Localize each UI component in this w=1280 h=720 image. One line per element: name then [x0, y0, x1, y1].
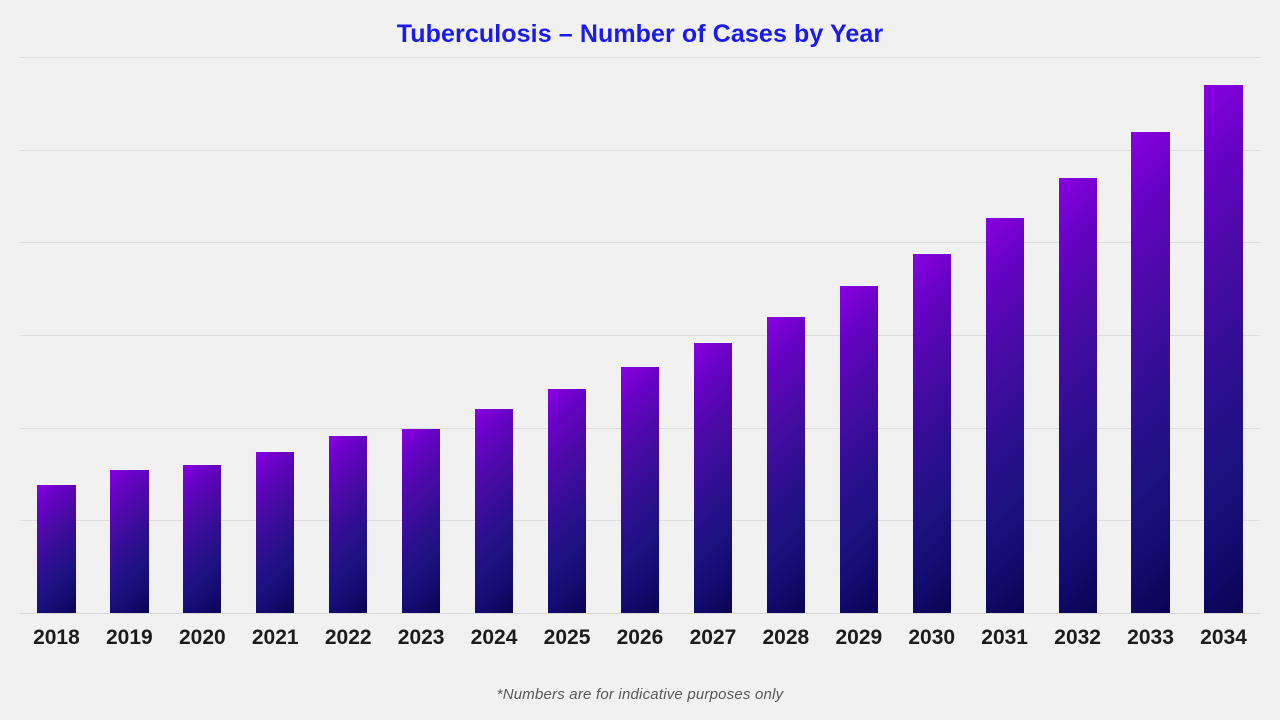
bar[interactable]	[256, 452, 294, 613]
x-axis-tick-label: 2022	[312, 624, 385, 652]
bar[interactable]	[986, 218, 1024, 613]
bar[interactable]	[183, 465, 221, 613]
bar[interactable]	[37, 485, 75, 613]
plot-area	[20, 57, 1260, 613]
bar[interactable]	[402, 429, 440, 613]
x-axis-tick-label: 2030	[895, 624, 968, 652]
bar[interactable]	[767, 317, 805, 614]
gridline	[20, 57, 1260, 58]
x-axis-tick-label: 2024	[458, 624, 531, 652]
x-axis-tick-label: 2018	[20, 624, 93, 652]
bar[interactable]	[1204, 85, 1242, 613]
chart-title: Tuberculosis – Number of Cases by Year	[0, 20, 1280, 49]
x-axis-tick-label: 2023	[385, 624, 458, 652]
bar[interactable]	[694, 343, 732, 613]
x-axis-tick-label: 2032	[1041, 624, 1114, 652]
bar[interactable]	[1059, 178, 1097, 614]
x-axis-tick-label: 2033	[1114, 624, 1187, 652]
bar[interactable]	[110, 470, 148, 613]
bar[interactable]	[548, 389, 586, 613]
x-axis-tick-label: 2026	[604, 624, 677, 652]
bar[interactable]	[329, 436, 367, 613]
x-axis-tick-label: 2025	[531, 624, 604, 652]
x-axis-tick-label: 2019	[93, 624, 166, 652]
x-axis-tick-label: 2028	[749, 624, 822, 652]
x-axis-labels: 2018201920202021202220232024202520262027…	[20, 624, 1260, 666]
x-axis-tick-label: 2027	[677, 624, 750, 652]
x-axis-tick-label: 2029	[822, 624, 895, 652]
axis-baseline	[20, 613, 1260, 614]
x-axis-tick-label: 2031	[968, 624, 1041, 652]
bar[interactable]	[475, 409, 513, 613]
bar[interactable]	[1131, 132, 1169, 613]
bar[interactable]	[840, 286, 878, 613]
bar[interactable]	[913, 254, 951, 614]
bar[interactable]	[621, 367, 659, 613]
gridline	[20, 150, 1260, 151]
x-axis-tick-label: 2034	[1187, 624, 1260, 652]
chart-container: Tuberculosis – Number of Cases by Year 2…	[0, 0, 1280, 720]
x-axis-tick-label: 2021	[239, 624, 312, 652]
chart-footnote: *Numbers are for indicative purposes onl…	[0, 686, 1280, 703]
x-axis-tick-label: 2020	[166, 624, 239, 652]
